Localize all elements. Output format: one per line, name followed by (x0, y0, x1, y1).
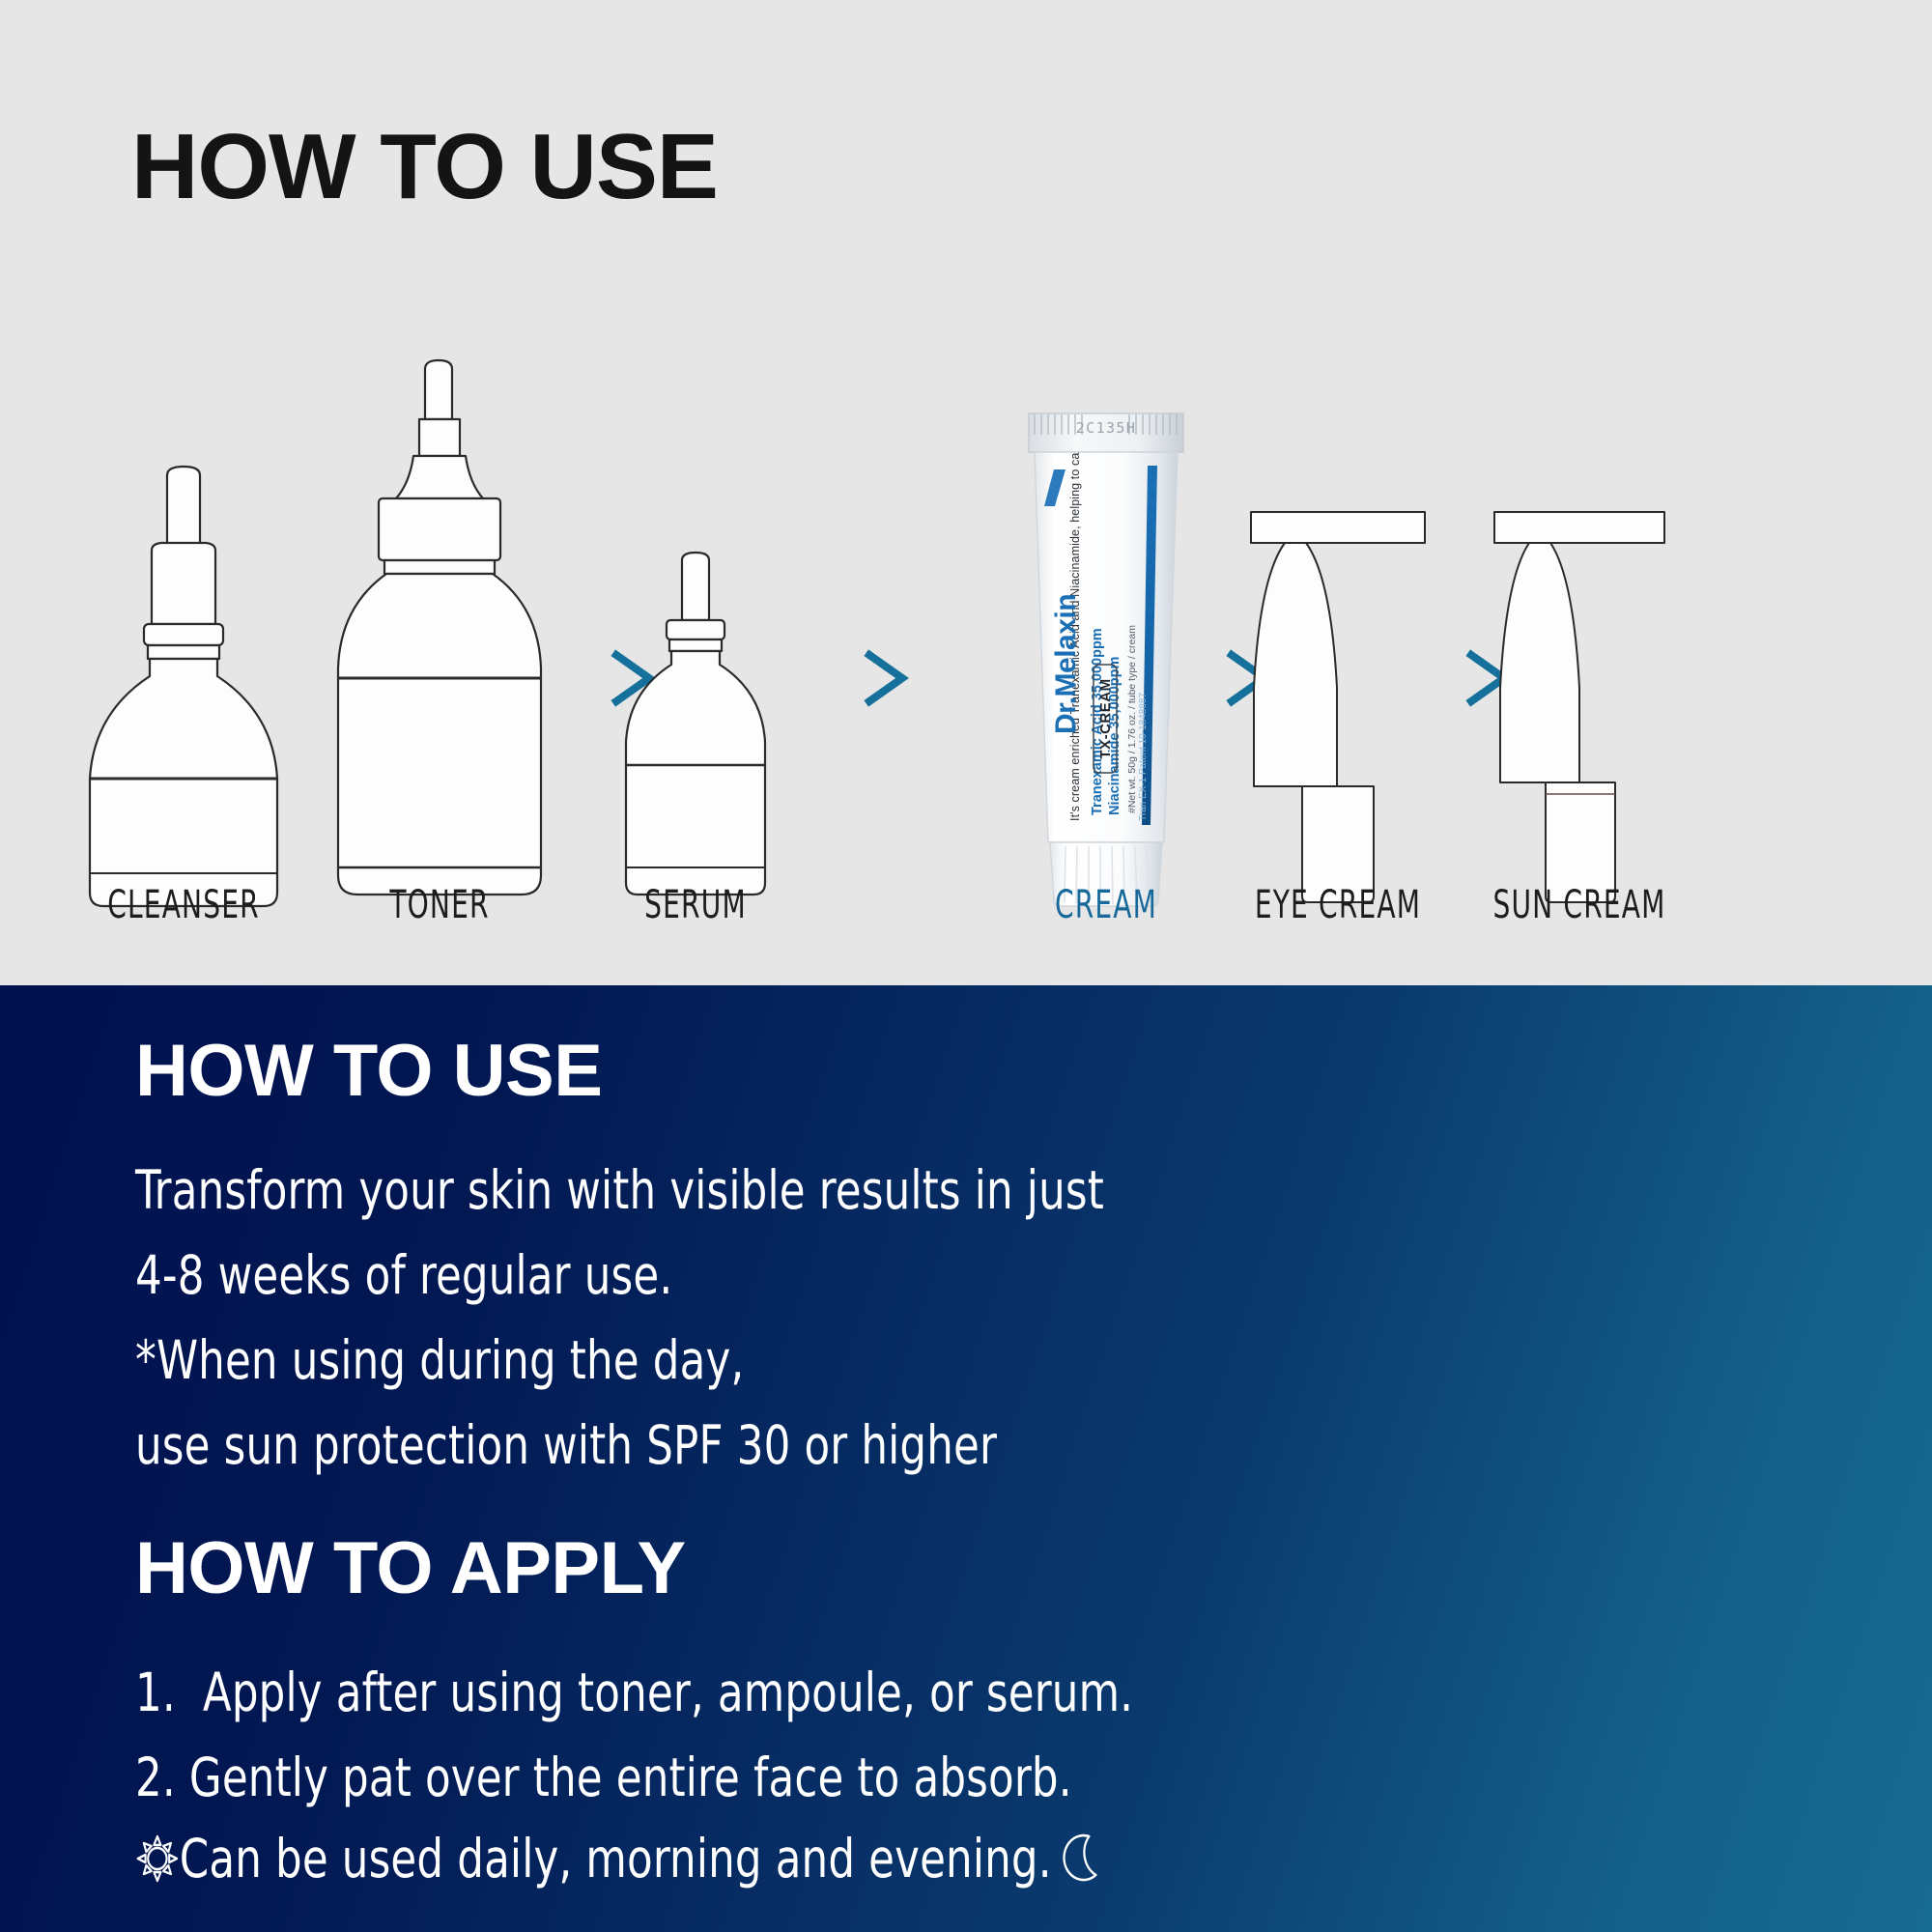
routine-step-cleanser[interactable]: CLEANSER (43, 290, 324, 908)
routine-step-eye-cream[interactable]: EYE CREAM (1198, 290, 1478, 908)
dropper-bottle-small-icon (609, 551, 782, 908)
intro-line-2: 4-8 weeks of regular use. (135, 1244, 746, 1306)
routine-step-row: CLEANSER (0, 290, 1932, 908)
apply-step-1-text: Apply after using toner, ampoule, or ser… (203, 1662, 1133, 1723)
daily-use-note: Can be used daily, morning and evening. (135, 1828, 1235, 1889)
bottom-panel: HOW TO USE Transform your skin with visi… (0, 985, 1932, 1932)
how-to-use-infographic: HOW TO USE (0, 0, 1932, 1932)
routine-step-toner[interactable]: TONER (299, 290, 580, 908)
page-title: HOW TO USE (131, 114, 718, 220)
apply-step-2-text: Gently pat over the entire face to absor… (189, 1747, 1072, 1808)
cream-tube-icon: 2C135H It's cream enriched Tranexamic A (1009, 406, 1203, 908)
step-label-serum: SERUM (630, 883, 761, 927)
tube-crimp-code: 2C135H (1076, 419, 1137, 437)
apply-step-1: 1. Apply after using toner, ampoule, or … (135, 1662, 1269, 1723)
toner-bottle-icon (328, 357, 551, 908)
tube-product-name: TX-CREAM (1097, 678, 1114, 758)
step-label-eye-cream: EYE CREAM (1232, 883, 1445, 927)
sun-icon (135, 1833, 180, 1884)
heading-how-to-apply: HOW TO APPLY (135, 1526, 686, 1610)
routine-step-sun-cream[interactable]: SUN CREAM (1439, 290, 1719, 908)
intro-line-4: use sun protection with SPF 30 or higher (135, 1414, 1115, 1476)
tube-brand: Dr.Melaxin (1050, 594, 1082, 734)
intro-line-1: Transform your skin with visible results… (135, 1159, 1236, 1221)
daily-use-text: Can be used daily, morning and evening. (180, 1828, 1052, 1889)
intro-line-3: *When using during the day, (135, 1329, 827, 1391)
apply-step-2-number: 2. (135, 1747, 176, 1808)
chevron-right-icon-3 (860, 647, 914, 709)
tube-patent: Tran EX-1 Patent 10-1848887 (1138, 693, 1149, 821)
crescent-moon-icon (1055, 1831, 1102, 1885)
apply-step-2: 2. Gently pat over the entire face to ab… (135, 1747, 1200, 1808)
step-label-cleanser: CLEANSER (86, 883, 281, 927)
tube-net-weight: #Net wt. 50g / 1.76 oz. / tube type / cr… (1126, 625, 1138, 813)
routine-step-serum[interactable]: SERUM (555, 290, 836, 908)
squeeze-tube-icon-eye (1241, 502, 1435, 908)
top-panel: HOW TO USE (0, 0, 1932, 985)
heading-how-to-use: HOW TO USE (135, 1029, 602, 1113)
apply-step-1-number: 1. (135, 1662, 176, 1723)
step-label-cream: CREAM (1040, 883, 1172, 927)
step-label-toner: TONER (376, 883, 503, 927)
dropper-bottle-large-icon (72, 464, 295, 908)
step-label-sun-cream: SUN CREAM (1468, 883, 1690, 927)
squeeze-tube-icon-sun (1483, 502, 1676, 908)
